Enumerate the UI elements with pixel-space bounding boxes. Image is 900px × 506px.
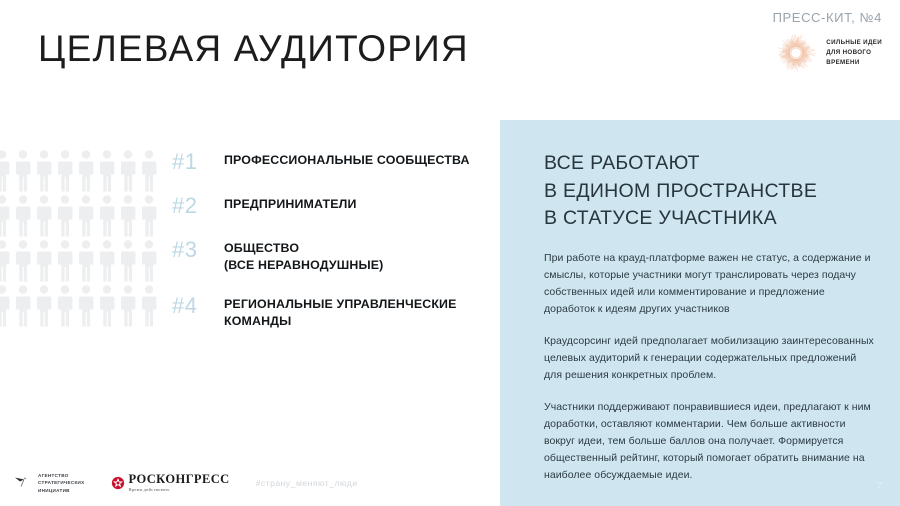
brand-wordmark: Сильные идеи для нового времени bbox=[826, 38, 882, 68]
roscongress-wordmark: РОСКОНГРЕСС Время действовать bbox=[129, 473, 230, 492]
person-pictogram-icon bbox=[97, 238, 117, 283]
person-pictogram-icon bbox=[76, 238, 96, 283]
person-pictogram-icon bbox=[0, 238, 12, 283]
slide: ЦЕЛЕВАЯ АУДИТОРИЯ ПРЕСС-КИТ, №4 Сильные … bbox=[0, 0, 900, 506]
panel-paragraph: Участники поддерживают понравившиеся иде… bbox=[544, 399, 874, 484]
person-pictogram-icon bbox=[139, 148, 159, 193]
roscongress-tagline: Время действовать bbox=[129, 488, 230, 493]
audience-item-number: #4 bbox=[172, 294, 224, 317]
roscongress-name: РОСКОНГРЕСС bbox=[129, 473, 230, 486]
person-pictogram-icon bbox=[13, 148, 33, 193]
page-title: ЦЕЛЕВАЯ АУДИТОРИЯ bbox=[38, 28, 469, 70]
person-pictogram-icon bbox=[97, 148, 117, 193]
brand-line-3: времени bbox=[826, 58, 882, 68]
audience-item: #3ОБЩЕСТВО (ВСЕ НЕРАВНОДУШНЫЕ) bbox=[172, 238, 492, 273]
person-pictogram-icon bbox=[0, 283, 12, 328]
asi-arrow-icon bbox=[14, 476, 34, 490]
person-pictogram-icon bbox=[34, 193, 54, 238]
roscongress-emblem-icon bbox=[111, 476, 125, 490]
audience-item-label: ПРЕДПРИНИМАТЕЛИ bbox=[224, 194, 357, 213]
asi-wordmark: Агентство стратегических инициатив bbox=[38, 472, 85, 494]
person-pictogram-icon bbox=[118, 238, 138, 283]
person-pictogram-icon bbox=[139, 193, 159, 238]
audience-item-number: #3 bbox=[172, 238, 224, 261]
person-pictogram-icon bbox=[55, 148, 75, 193]
person-pictogram-icon bbox=[97, 283, 117, 328]
asi-line-1: Агентство bbox=[38, 472, 85, 479]
person-pictogram-icon bbox=[118, 283, 138, 328]
audience-item: #2ПРЕДПРИНИМАТЕЛИ bbox=[172, 194, 492, 217]
person-pictogram-icon bbox=[118, 148, 138, 193]
person-pictogram-icon bbox=[13, 193, 33, 238]
person-pictogram-icon bbox=[0, 148, 12, 193]
person-pictogram-icon bbox=[55, 193, 75, 238]
person-pictogram-icon bbox=[34, 283, 54, 328]
asi-line-3: инициатив bbox=[38, 487, 85, 494]
asi-line-2: стратегических bbox=[38, 479, 85, 486]
person-pictogram-icon bbox=[118, 193, 138, 238]
press-kit-label: ПРЕСС-КИТ, №4 bbox=[773, 10, 882, 25]
panel-paragraph: При работе на крауд-платформе важен не с… bbox=[544, 250, 874, 318]
audience-item-number: #1 bbox=[172, 150, 224, 173]
person-pictogram-icon bbox=[76, 283, 96, 328]
panel-heading: ВСЕ РАБОТАЮТ В ЕДИНОМ ПРОСТРАНСТВЕ В СТА… bbox=[544, 150, 876, 233]
footer: Агентство стратегических инициатив РОСКО… bbox=[14, 472, 358, 494]
person-pictogram-icon bbox=[139, 238, 159, 283]
person-pictogram-icon bbox=[76, 193, 96, 238]
person-pictogram-icon bbox=[13, 238, 33, 283]
brand-line-1: Сильные идеи bbox=[826, 38, 882, 48]
audience-item: #1ПРОФЕССИОНАЛЬНЫЕ СООБЩЕСТВА bbox=[172, 150, 492, 173]
audience-list: #1ПРОФЕССИОНАЛЬНЫЕ СООБЩЕСТВА#2ПРЕДПРИНИ… bbox=[172, 150, 492, 329]
person-pictogram-icon bbox=[76, 148, 96, 193]
panel-paragraph: Краудсорсинг идей предполагает мобилизац… bbox=[544, 333, 874, 384]
person-pictogram-icon bbox=[97, 193, 117, 238]
radial-burst-icon bbox=[773, 30, 819, 76]
person-pictogram-icon bbox=[13, 283, 33, 328]
person-pictogram-icon bbox=[34, 148, 54, 193]
asi-logo[interactable]: Агентство стратегических инициатив bbox=[14, 472, 85, 494]
roscongress-logo[interactable]: РОСКОНГРЕСС Время действовать bbox=[111, 473, 230, 492]
audience-item-label: РЕГИОНАЛЬНЫЕ УПРАВЛЕНЧЕСКИЕ КОМАНДЫ bbox=[224, 294, 457, 329]
page-number: 7 bbox=[876, 481, 882, 492]
panel-body: При работе на крауд-платформе важен не с… bbox=[544, 250, 874, 484]
info-panel: ВСЕ РАБОТАЮТ В ЕДИНОМ ПРОСТРАНСТВЕ В СТА… bbox=[500, 120, 900, 506]
audience-item-label: ПРОФЕССИОНАЛЬНЫЕ СООБЩЕСТВА bbox=[224, 150, 470, 169]
brand-line-2: для нового bbox=[826, 48, 882, 58]
person-pictogram-icon bbox=[34, 238, 54, 283]
person-pictogram-icon bbox=[55, 238, 75, 283]
person-pictogram-icon bbox=[139, 283, 159, 328]
audience-item: #4РЕГИОНАЛЬНЫЕ УПРАВЛЕНЧЕСКИЕ КОМАНДЫ bbox=[172, 294, 492, 329]
campaign-hashtag: #страну_меняют_люди bbox=[256, 478, 358, 488]
brand-lockup: Сильные идеи для нового времени bbox=[773, 30, 882, 76]
audience-item-number: #2 bbox=[172, 194, 224, 217]
audience-item-label: ОБЩЕСТВО (ВСЕ НЕРАВНОДУШНЫЕ) bbox=[224, 238, 383, 273]
person-pictogram-icon bbox=[55, 283, 75, 328]
person-pictogram-icon bbox=[0, 193, 12, 238]
people-pictogram-grid bbox=[0, 148, 159, 328]
